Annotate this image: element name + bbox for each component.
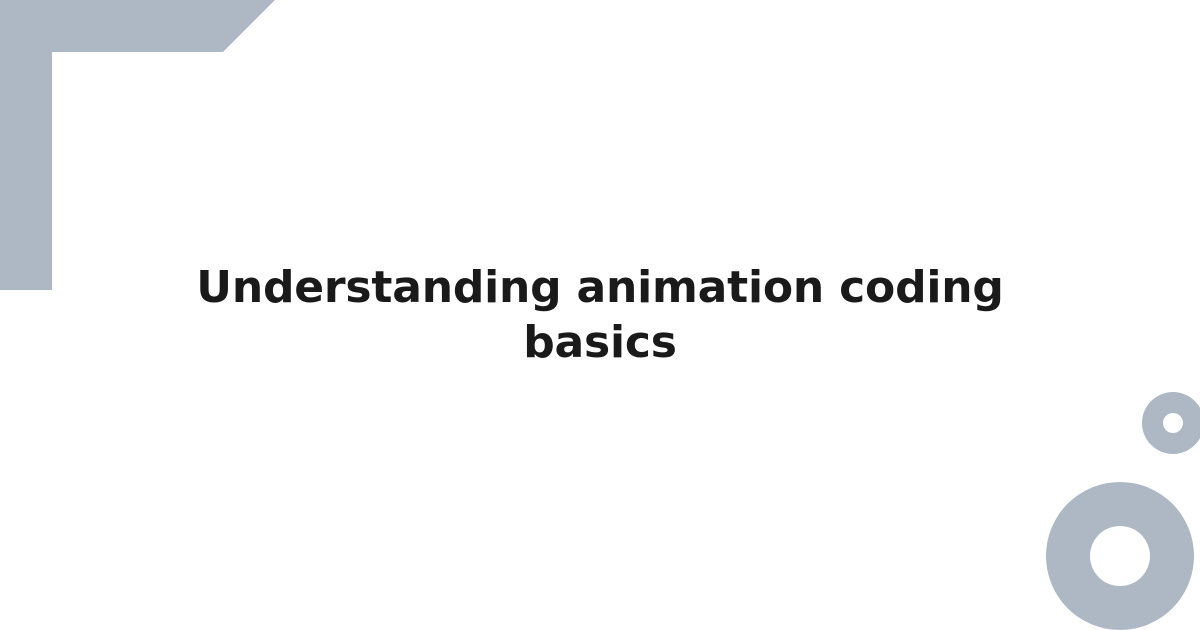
title-container: Understanding animation coding basics [0,0,1200,630]
page-title: Understanding animation coding basics [190,260,1010,370]
social-card-canvas: Understanding animation coding basics [0,0,1200,630]
